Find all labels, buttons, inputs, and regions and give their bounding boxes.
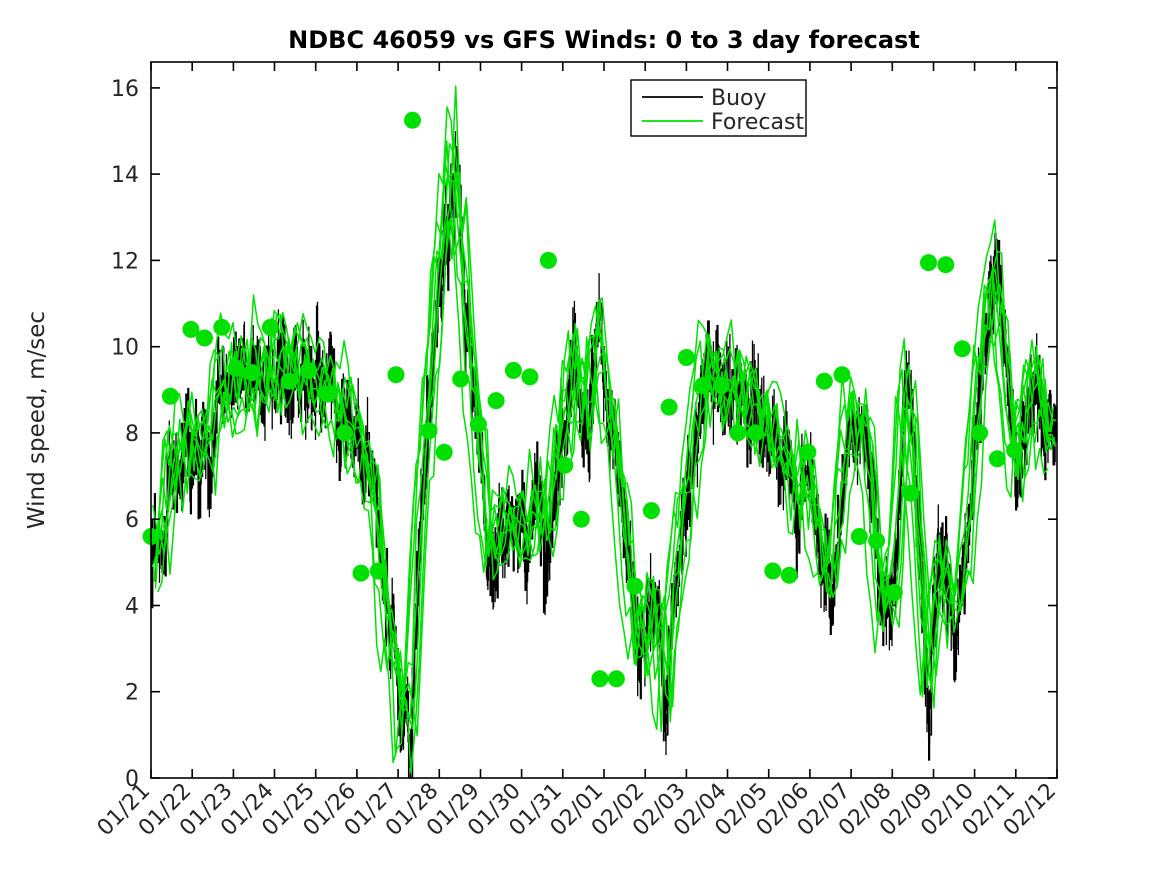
forecast-marker	[162, 388, 179, 405]
forecast-marker	[336, 424, 353, 441]
forecast-marker	[713, 377, 730, 394]
forecast-marker	[488, 392, 505, 409]
forecast-marker	[626, 578, 643, 595]
forecast-marker	[868, 532, 885, 549]
forecast-marker	[816, 373, 833, 390]
forecast-marker	[747, 424, 764, 441]
legend-label-forecast: Forecast	[711, 110, 804, 135]
forecast-marker	[989, 450, 1006, 467]
forecast-marker	[781, 567, 798, 584]
forecast-marker	[505, 362, 522, 379]
forecast-marker	[902, 485, 919, 502]
forecast-marker	[521, 368, 538, 385]
chart-root: 024681012141601/2101/2201/2301/2401/2501…	[0, 0, 1167, 875]
forecast-marker	[937, 256, 954, 273]
forecast-marker	[591, 670, 608, 687]
y-tick-label: 12	[111, 249, 139, 274]
forecast-marker	[262, 319, 279, 336]
forecast-marker	[834, 366, 851, 383]
forecast-marker	[556, 457, 573, 474]
forecast-marker	[196, 330, 213, 347]
forecast-marker	[452, 371, 469, 388]
y-tick-label: 10	[111, 336, 139, 361]
forecast-marker	[540, 252, 557, 269]
forecast-marker	[370, 563, 387, 580]
forecast-marker	[729, 424, 746, 441]
forecast-marker	[388, 366, 405, 383]
y-tick-label: 4	[125, 594, 139, 619]
forecast-marker	[281, 373, 298, 390]
forecast-marker	[1006, 442, 1023, 459]
forecast-marker	[608, 670, 625, 687]
forecast-marker	[319, 386, 336, 403]
forecast-marker	[920, 254, 937, 271]
y-tick-label: 8	[125, 422, 139, 447]
y-tick-label: 14	[111, 163, 139, 188]
forecast-marker	[300, 362, 317, 379]
forecast-marker	[678, 349, 695, 366]
forecast-marker	[694, 377, 711, 394]
y-axis-label: Wind speed, m/sec	[24, 311, 50, 529]
forecast-marker	[573, 511, 590, 528]
forecast-marker	[764, 563, 781, 580]
forecast-marker	[353, 565, 370, 582]
forecast-marker	[799, 444, 816, 461]
y-tick-label: 16	[111, 77, 139, 102]
forecast-marker	[228, 360, 245, 377]
forecast-marker	[243, 364, 260, 381]
forecast-marker	[886, 584, 903, 601]
forecast-marker	[643, 502, 660, 519]
forecast-marker	[421, 422, 438, 439]
forecast-marker	[971, 424, 988, 441]
wind-speed-chart: 024681012141601/2101/2201/2301/2401/2501…	[0, 0, 1167, 875]
forecast-marker	[851, 528, 868, 545]
forecast-marker	[954, 340, 971, 357]
forecast-marker	[470, 416, 487, 433]
forecast-marker	[436, 444, 453, 461]
y-tick-label: 6	[125, 508, 139, 533]
forecast-marker	[213, 319, 230, 336]
forecast-marker	[661, 399, 678, 416]
legend-label-buoy: Buoy	[711, 86, 767, 111]
forecast-marker	[404, 112, 421, 129]
y-tick-label: 2	[125, 681, 139, 706]
chart-title: NDBC 46059 vs GFS Winds: 0 to 3 day fore…	[288, 26, 920, 54]
